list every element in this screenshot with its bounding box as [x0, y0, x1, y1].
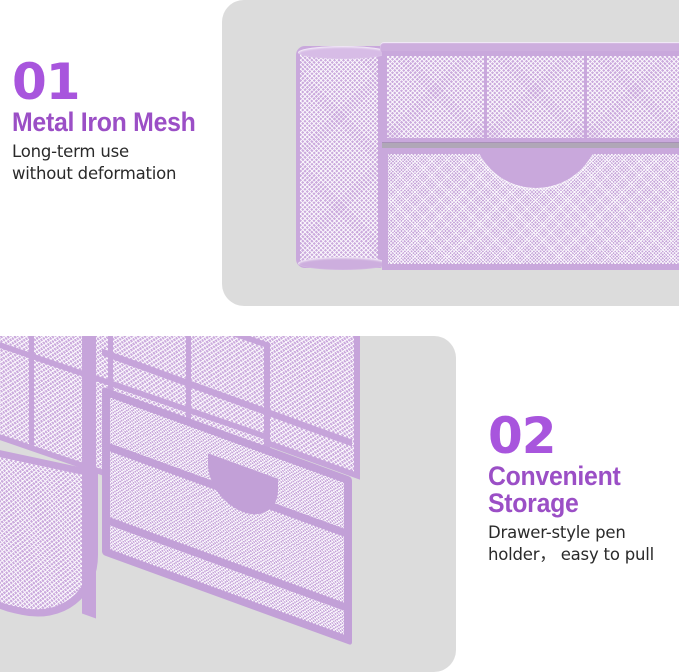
- feature-description-02-line-2: holder， easy to pull: [488, 545, 654, 564]
- tray-slot: [34, 336, 112, 473]
- cup-top-rim: [298, 46, 388, 59]
- feature-description-02-line-1: Drawer-style pen: [488, 523, 626, 542]
- feature-block-02: 02 ConvenientStorage Drawer-style penhol…: [488, 412, 673, 566]
- feature-description-02: Drawer-style penholder， easy to pull: [488, 522, 673, 566]
- feature-title-02-line-2: Storage: [488, 488, 579, 518]
- desk-organizer-angled-illustration: [0, 336, 456, 672]
- feature-number-01: 01: [12, 58, 217, 107]
- product-image-panel-feature-01: [222, 0, 679, 306]
- pull-out-drawer: [382, 148, 679, 270]
- compartment-slot: [487, 56, 587, 138]
- feature-description-01-line-1: Long-term use: [12, 142, 129, 161]
- feature-description-01-line-2: without deformation: [12, 164, 176, 183]
- drawer-handle-notch: [472, 148, 600, 188]
- upper-compartments: [382, 51, 679, 143]
- compartment-slot: [587, 56, 679, 138]
- cup-bottom-rim: [298, 257, 388, 270]
- feature-description-01: Long-term usewithout deformation: [12, 141, 217, 185]
- compartment-slot: [387, 56, 487, 138]
- feature-title-02: ConvenientStorage: [488, 463, 658, 517]
- product-image-panel-feature-02: [0, 336, 456, 672]
- desk-organizer-front-illustration: [296, 42, 679, 274]
- feature-title-01: Metal Iron Mesh: [12, 109, 201, 136]
- feature-block-01: 01 Metal Iron Mesh Long-term usewithout …: [12, 58, 217, 185]
- organizer-center-wall: [82, 336, 96, 619]
- organizer-body: [380, 42, 679, 272]
- feature-number-02: 02: [488, 412, 673, 461]
- pen-cup-cylinder: [296, 46, 382, 268]
- feature-title-02-line-1: Convenient: [488, 461, 620, 491]
